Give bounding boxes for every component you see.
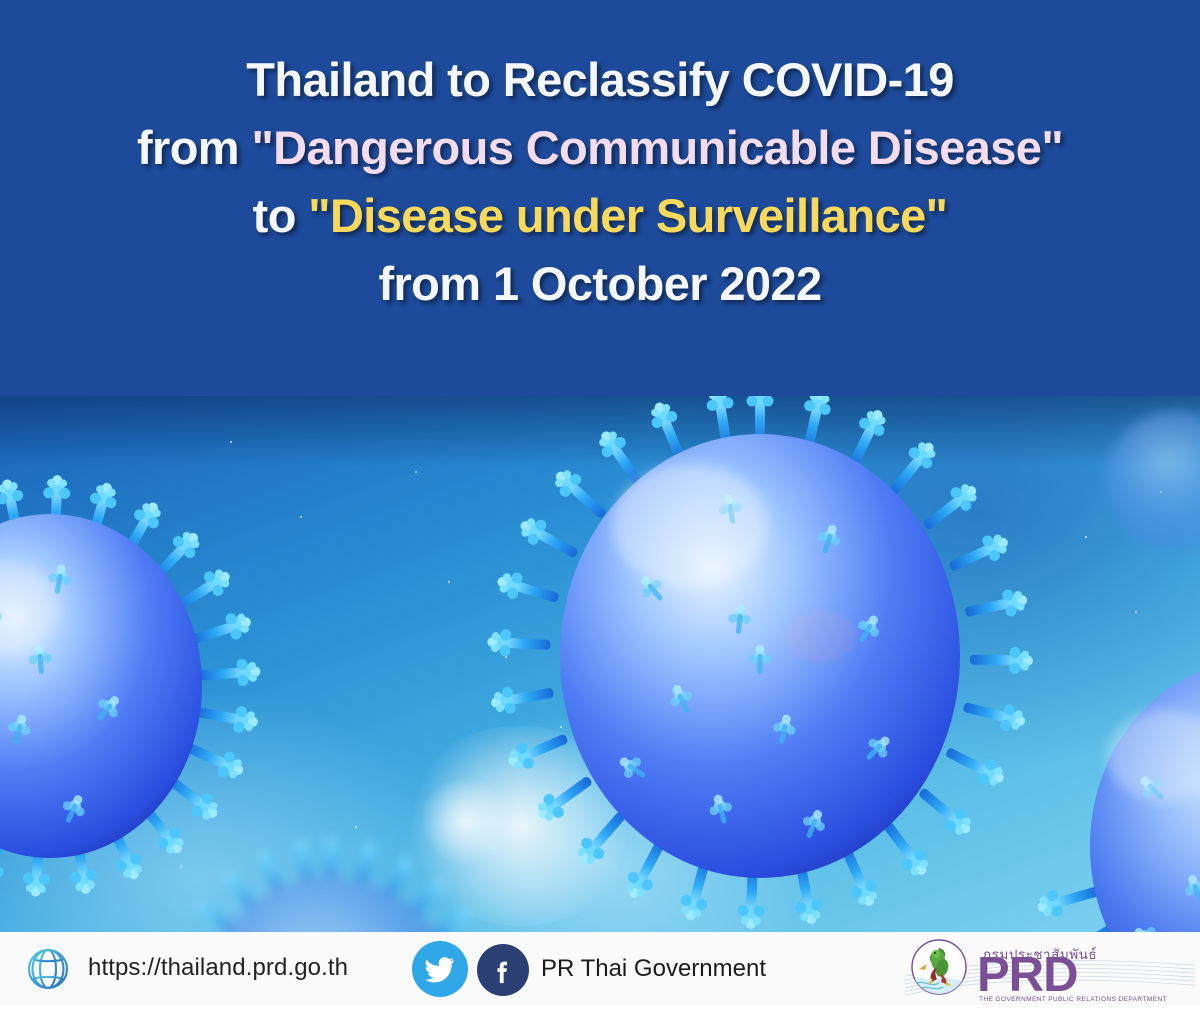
website-url[interactable]: https://thailand.prd.go.th — [88, 954, 348, 982]
prd-seal-icon — [912, 940, 967, 996]
globe-icon[interactable] — [24, 945, 72, 993]
prd-logo: กรมประชาสัมพันธ์ PRD THE GOVERNMENT PUBL… — [905, 934, 1195, 1005]
virus-image-band — [0, 396, 1200, 932]
headline-line-3: to "Disease under Surveillance" — [253, 192, 948, 239]
headline-line-3-prefix: to — [253, 189, 309, 242]
headline-line-4-text: from 1 October 2022 — [378, 257, 821, 310]
headline-line-2-prefix: from — [137, 121, 252, 174]
headline-line-2: from "Dangerous Communicable Disease" — [137, 124, 1063, 171]
virion-left — [0, 475, 261, 898]
headline-block: Thailand to Reclassify COVID-19 from "Da… — [0, 0, 1200, 396]
headline-line-4: from 1 October 2022 — [378, 260, 821, 307]
headline-line-3-quoted: "Disease under Surveillance" — [308, 189, 947, 242]
poster-header: Thailand to Reclassify COVID-19 from "Da… — [0, 0, 1200, 396]
prd-acronym: PRD — [977, 948, 1077, 1002]
facebook-icon[interactable] — [477, 944, 529, 996]
virion-right — [1034, 661, 1200, 932]
social-handle-label: PR Thai Government — [541, 955, 766, 983]
virion-top-right-blurred — [1105, 411, 1200, 551]
prd-english-name: THE GOVERNMENT PUBLIC RELATIONS DEPARTME… — [979, 996, 1167, 1003]
virion-cluster-illustration — [0, 396, 1200, 932]
headline-line-2-quoted: "Dangerous Communicable Disease" — [251, 121, 1063, 174]
virion-center — [487, 396, 1034, 929]
headline-line-1: Thailand to Reclassify COVID-19 — [246, 56, 954, 103]
twitter-icon[interactable] — [412, 941, 468, 997]
headline-line-1-text: Thailand to Reclassify COVID-19 — [246, 53, 954, 106]
